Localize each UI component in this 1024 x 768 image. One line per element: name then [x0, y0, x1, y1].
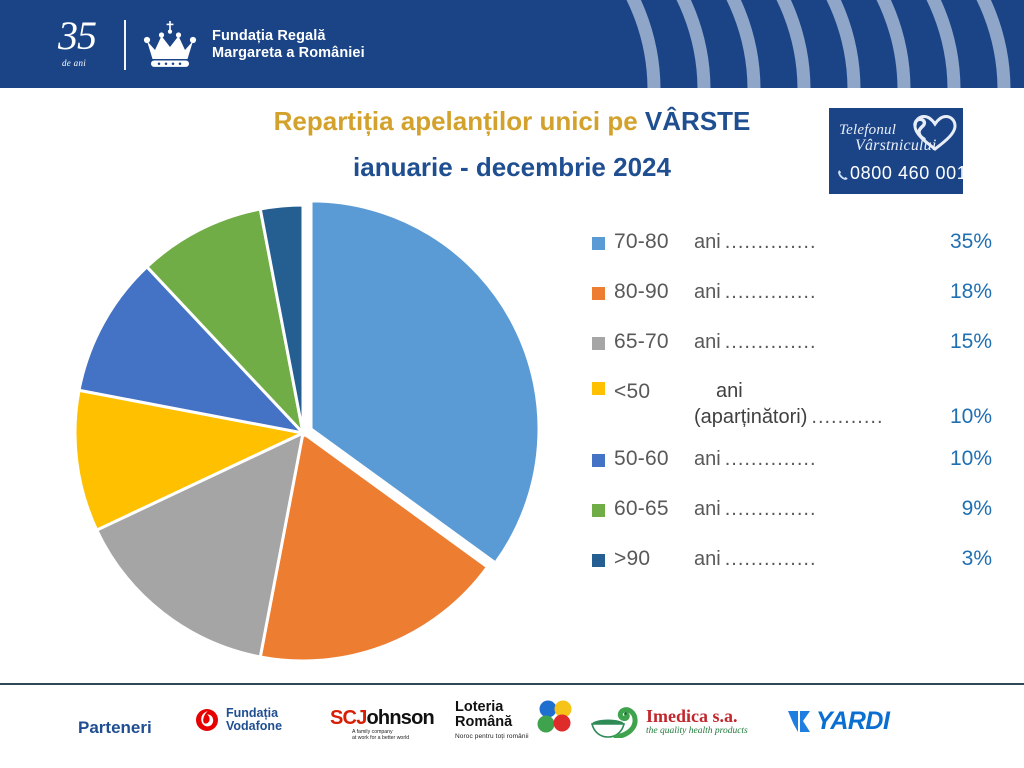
legend-swatch-icon: [592, 382, 605, 395]
legend-unit-label: ani: [694, 548, 721, 571]
loteria-tagline: Noroc pentru toți românii: [455, 733, 529, 740]
legend-item-50-60[interactable]: 50-60 ani .............. 10%: [592, 447, 992, 471]
legend-percent-value: 10%: [936, 447, 992, 471]
phone-logo-brand: Telefonul Vârstnicului: [839, 122, 957, 154]
legend-range-label: 50-60: [614, 447, 694, 471]
pie-slice-group: [75, 201, 539, 661]
legend-item-70-80[interactable]: 70-80 ani .............. 35%: [592, 230, 992, 254]
legend-unit-label: ani: [694, 331, 721, 354]
legend-leader: ani ..............: [694, 448, 936, 471]
logo-fundatia-vodafone[interactable]: Fundația Vodafone: [195, 707, 282, 733]
legend-unit-label: ani: [694, 448, 721, 471]
legend-percent-value: 15%: [936, 330, 992, 354]
legend-swatch-icon: [592, 237, 605, 250]
org-name-line2: Margareta a României: [212, 45, 365, 62]
legend-range-label: 65-70: [614, 330, 694, 354]
vodafone-line2: Vodafone: [226, 720, 282, 733]
legend-unit-label: ani: [694, 498, 721, 521]
scjohnson-sc: SC: [330, 707, 356, 729]
scjohnson-tagline-line2: at work for a better world: [352, 735, 434, 741]
legend-dot-leader: ..............: [725, 281, 932, 304]
org-name-line1: Fundația Regală: [212, 28, 365, 45]
legend-swatch-icon: [592, 287, 605, 300]
brand-lockup: 35 de ani: [58, 14, 365, 76]
footer-divider: [0, 683, 1024, 685]
vodafone-icon: [195, 708, 219, 732]
legend-percent-value: 18%: [936, 280, 992, 304]
phone-logo-brand-line2: Vârstnicului: [855, 138, 957, 154]
imedica-wordmark: Imedica s.a. the quality health products: [646, 707, 748, 737]
phone-handset-icon: [837, 165, 849, 186]
legend-leader: ani ..............: [694, 331, 936, 354]
chart-legend: 70-80 ani .............. 35% 80-90 ani .…: [592, 230, 992, 597]
title-gold-part: Repartiția apelanților unici pe: [274, 106, 645, 136]
legend-unit-label: ani: [694, 231, 721, 254]
legend-item-65-70[interactable]: 65-70 ani .............. 15%: [592, 330, 992, 354]
imedica-tagline: the quality health products: [646, 726, 748, 737]
anniversary-mark: 35 de ani: [58, 16, 120, 74]
imedica-snake-bowl-icon: [590, 706, 642, 738]
header-arc-decoration: [504, 0, 1024, 88]
legend-unit-label: ani: [716, 380, 743, 402]
legend-percent-value: 35%: [936, 230, 992, 254]
legend-range-label: 70-80: [614, 230, 694, 254]
vodafone-wordmark: Fundația Vodafone: [226, 707, 282, 733]
legend-range-label: >90: [614, 547, 694, 571]
legend-swatch-icon: [592, 554, 605, 567]
legend-leader: ani ..............: [694, 281, 936, 304]
partners-label: Parteneri: [78, 718, 152, 738]
loteria-balls-icon: [534, 700, 576, 734]
legend-percent-value: 9%: [936, 497, 992, 521]
legend-item-80-90[interactable]: 80-90 ani .............. 18%: [592, 280, 992, 304]
logo-yardi[interactable]: YARDI: [787, 708, 889, 734]
legend-swatch-icon: [592, 504, 605, 517]
logo-sc-johnson[interactable]: SCJohnson A family company at work for a…: [330, 708, 434, 741]
legend-dot-leader: ..............: [725, 448, 932, 471]
scjohnson-wordmark: SCJohnson: [330, 708, 434, 728]
imedica-title: Imedica s.a.: [646, 707, 748, 726]
brand-divider: [124, 20, 126, 70]
legend-dot-leader: ..............: [725, 548, 932, 571]
header-underline: [0, 88, 1024, 91]
legend-item-60-65[interactable]: 60-65 ani .............. 9%: [592, 497, 992, 521]
legend-dot-leader: ..............: [725, 331, 932, 354]
legend-range-label: 60-65: [614, 497, 694, 521]
logo-imedica[interactable]: Imedica s.a. the quality health products: [590, 706, 748, 738]
legend-range-label: 80-90: [614, 280, 694, 304]
phone-number-row: 0800 460 001: [837, 163, 963, 186]
telefonul-varstnicului-logo: Telefonul Vârstnicului 0800 460 001: [829, 108, 963, 194]
legend-percent-value: 10%: [936, 405, 992, 429]
org-name: Fundația Regală Margareta a României: [212, 28, 365, 62]
legend-percent-value: 3%: [936, 547, 992, 571]
pie-chart-svg: [60, 188, 580, 678]
phone-number: 0800 460 001: [850, 163, 963, 183]
legend-item-under-50[interactable]: <50 ani (aparținători) ........... 10%: [592, 380, 992, 429]
yardi-wordmark: YARDI: [816, 708, 889, 734]
header-band: 35 de ani: [0, 0, 1024, 88]
legend-leader: ani ..............: [694, 548, 936, 571]
legend-item-over-90[interactable]: >90 ani .............. 3%: [592, 547, 992, 571]
logo-loteria-romana[interactable]: Loteria Română Noroc pentru toți românii: [455, 700, 576, 740]
pie-chart: [60, 188, 580, 678]
legend-swatch-icon: [592, 337, 605, 350]
slide-root: 35 de ani: [0, 0, 1024, 768]
legend-leader: ani ..............: [694, 231, 936, 254]
yardi-icon: [787, 708, 811, 734]
legend-sublabel-row: (aparținători) ........... 10%: [694, 405, 992, 429]
legend-two-line-body: ani (aparținători) ........... 10%: [694, 380, 992, 429]
legend-range-label: <50: [614, 380, 694, 404]
legend-swatch-icon: [592, 454, 605, 467]
legend-dot-leader: ..............: [725, 498, 932, 521]
legend-dot-leader: ..............: [725, 231, 932, 254]
title-navy-part: VÂRSTE: [645, 106, 750, 136]
legend-leader: ani ..............: [694, 498, 936, 521]
scjohnson-j: J: [356, 707, 366, 729]
phone-logo-brand-line1: Telefonul: [839, 122, 896, 138]
loteria-line1: Loteria: [455, 700, 529, 715]
loteria-wordmark: Loteria Română Noroc pentru toți românii: [455, 700, 529, 740]
scjohnson-tagline: A family company at work for a better wo…: [352, 729, 434, 741]
legend-dot-leader: ...........: [811, 406, 932, 429]
anniversary-suffix: de ani: [62, 58, 86, 68]
crown-icon: [142, 19, 200, 71]
scjohnson-rest: ohnson: [367, 707, 434, 729]
loteria-line2: Română: [455, 715, 529, 730]
legend-unit-label: ani: [694, 281, 721, 304]
anniversary-number: 35: [58, 13, 96, 58]
legend-sublabel: (aparținători): [694, 406, 807, 429]
